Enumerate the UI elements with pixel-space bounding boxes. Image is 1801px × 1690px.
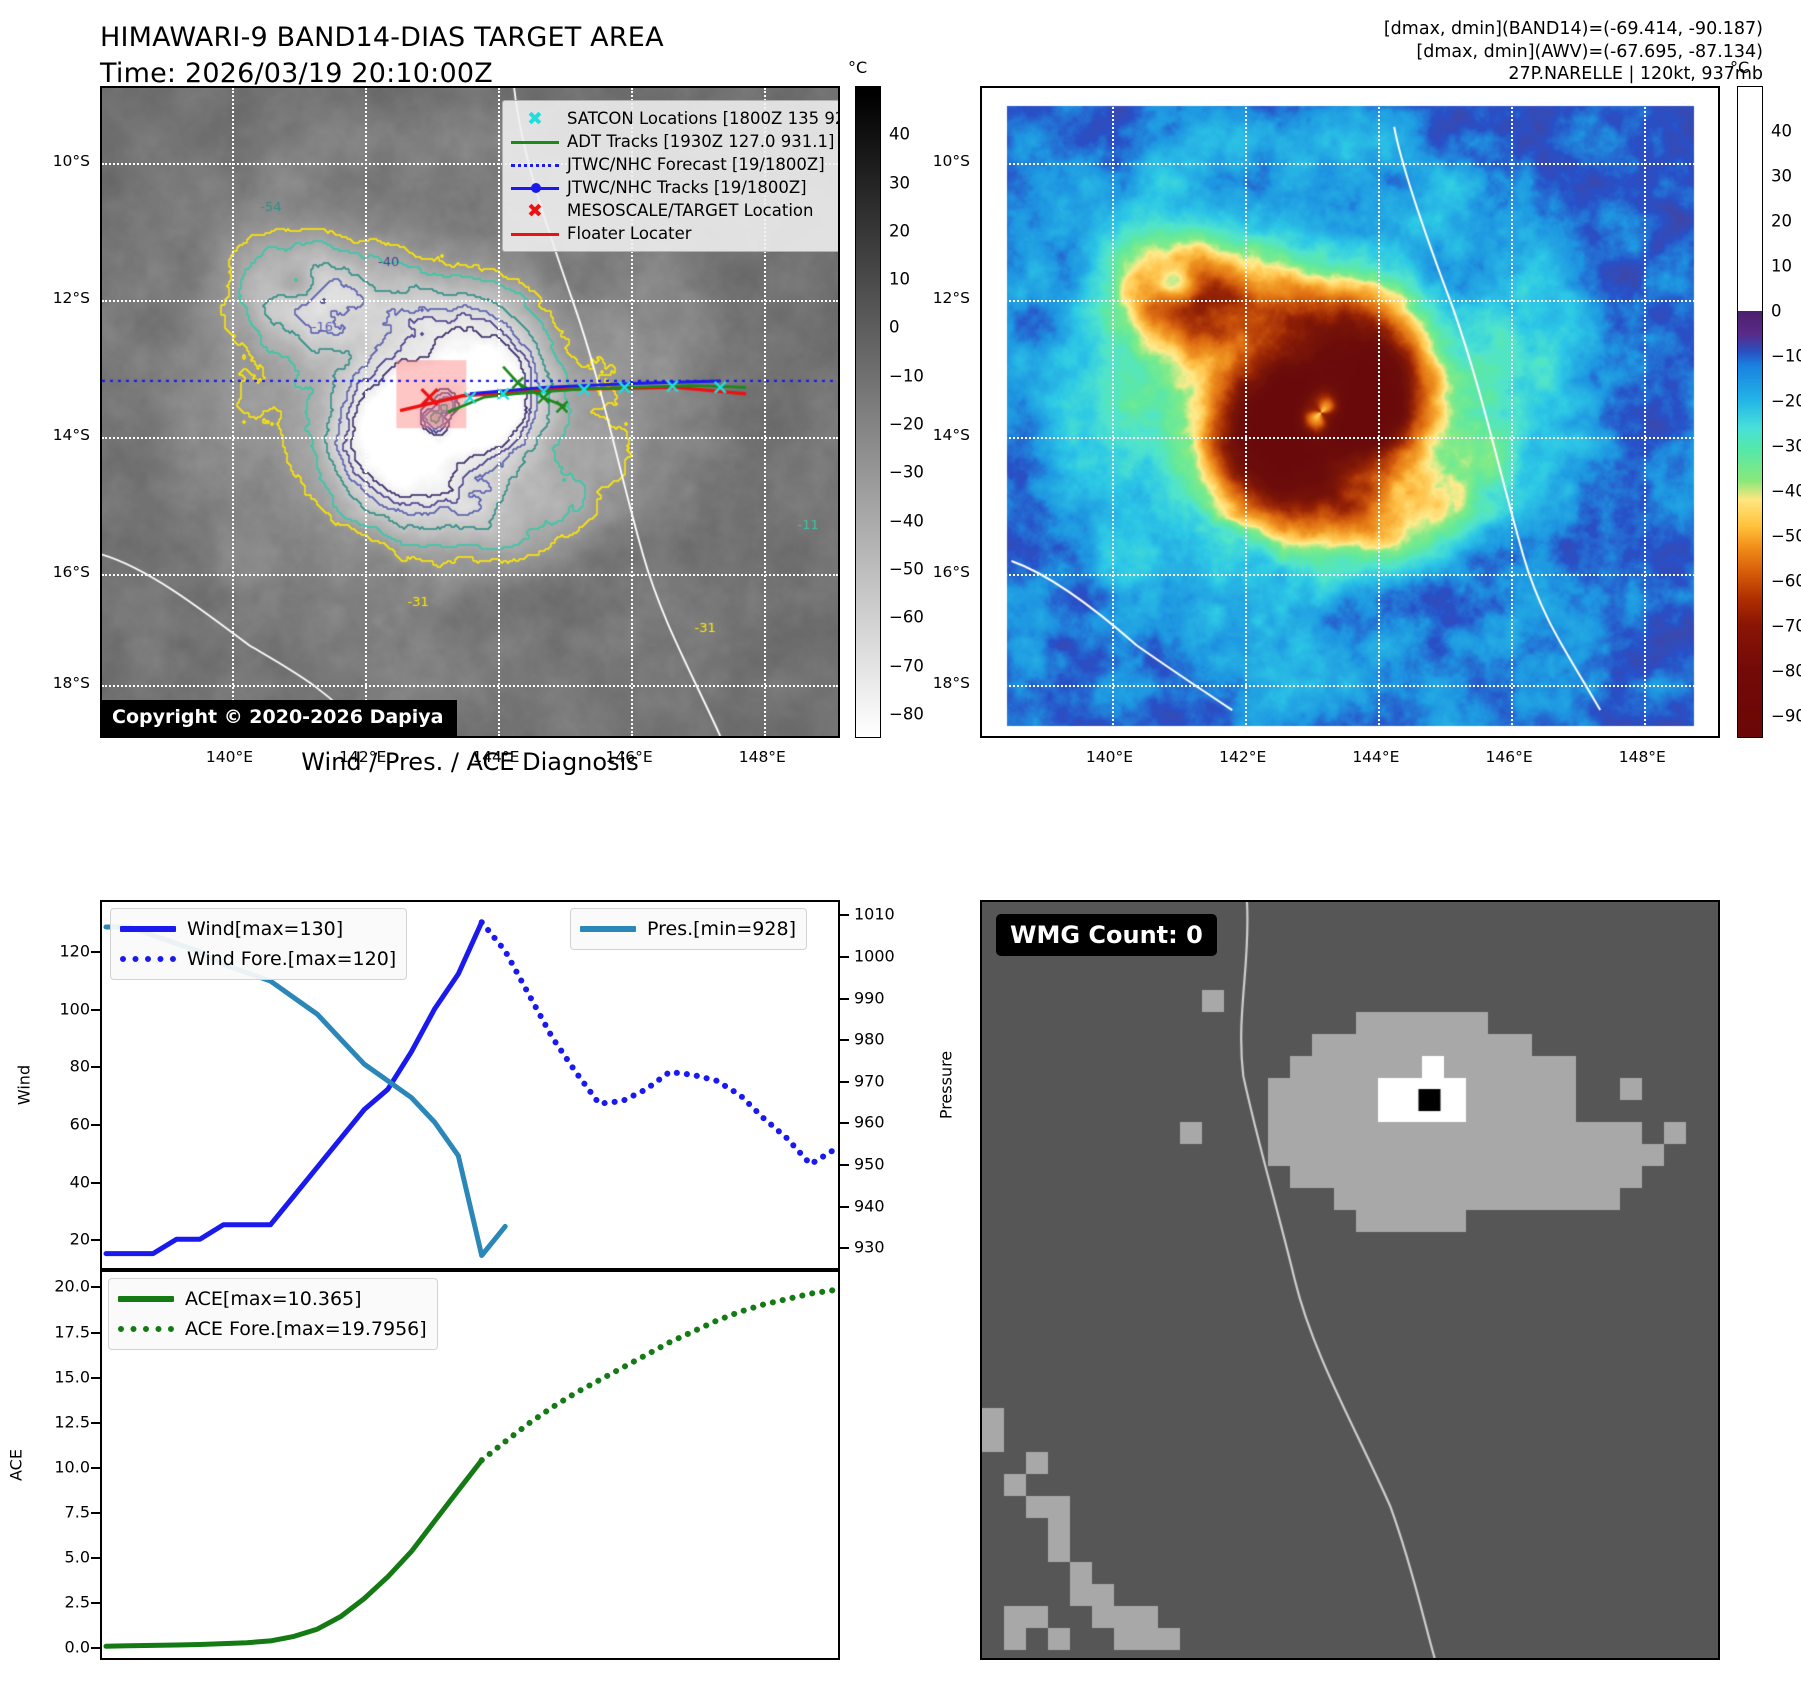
pressure-tickmark: [840, 914, 849, 916]
ir-legend-row: Floater Locater: [509, 222, 840, 245]
wind-tickmark: [91, 1239, 100, 1241]
bd-lat-tick: 16°S: [908, 563, 970, 581]
ir-legend-label: MESOSCALE/TARGET Location: [567, 201, 813, 221]
ir-colorbar-tick: −80: [889, 704, 924, 723]
ir-legend-symbol-4: ✖: [509, 201, 561, 221]
gridline-horizontal: [102, 300, 838, 302]
wind-ytick: 100: [38, 999, 90, 1018]
pressure-tickmark: [840, 1039, 849, 1041]
gridline-vertical: [1378, 88, 1380, 736]
ace-tickmark: [91, 1512, 100, 1514]
wind-legend: Wind[max=130]Wind Fore.[max=120]: [110, 908, 407, 980]
bd-colorbar-tick: 30: [1771, 166, 1792, 185]
gridline-horizontal: [102, 685, 838, 687]
wind-legend-label: Wind Fore.[max=120]: [187, 948, 396, 970]
bd-colorbar-tick: 0: [1771, 301, 1782, 320]
ace-ytick: 10.0: [30, 1457, 90, 1476]
pressure-axis-label: Pressure: [937, 1051, 956, 1119]
gridline-vertical: [498, 88, 500, 736]
pressure-ytick: 930: [854, 1238, 885, 1257]
ir-legend: ✖SATCON Locations [1800Z 135 929]ADT Tra…: [502, 100, 840, 252]
pressure-ytick: 980: [854, 1030, 885, 1049]
ir-colorbar-unit: °C: [848, 58, 867, 77]
series-windforemax: [482, 922, 834, 1164]
ir-legend-label: ADT Tracks [1930Z 127.0 931.1]: [567, 132, 834, 152]
ace-tickmark: [91, 1467, 100, 1469]
bd-enhanced-panel[interactable]: [980, 86, 1720, 738]
pressure-ytick: 1000: [854, 947, 895, 966]
ir-colorbar: [855, 86, 881, 738]
wind-tickmark: [91, 1182, 100, 1184]
page-title: HIMAWARI-9 BAND14-DIAS TARGET AREA Time:…: [100, 20, 664, 92]
ace-tickmark: [91, 1602, 100, 1604]
series-acemax: [106, 1460, 482, 1646]
ace-ytick: 0.0: [30, 1638, 90, 1657]
bd-colorbar: [1737, 86, 1763, 738]
ir-legend-row: JTWC/NHC Tracks [19/1800Z]: [509, 176, 840, 199]
bd-lon-tick: 144°E: [1352, 748, 1399, 766]
ir-legend-row: ADT Tracks [1930Z 127.0 931.1]: [509, 130, 840, 153]
pressure-legend-row: Pres.[min=928]: [577, 914, 796, 944]
bd-colorbar-tick: −30: [1771, 436, 1801, 455]
wind-ytick: 80: [38, 1057, 90, 1076]
line-symbol: [511, 141, 559, 144]
bd-colorbar-tick: −10: [1771, 346, 1801, 365]
ir-colorbar-tick: −10: [889, 366, 924, 385]
gridline-horizontal: [102, 574, 838, 576]
gridline-vertical: [1245, 88, 1247, 736]
ace-tickmark: [91, 1422, 100, 1424]
bd-lon-tick: 140°E: [1086, 748, 1133, 766]
wind-legend-symbol-0: [117, 918, 179, 940]
ace-legend-label: ACE[max=10.365]: [185, 1288, 362, 1310]
bd-lat-tick: 18°S: [908, 674, 970, 692]
ir-colorbar-tick: −60: [889, 608, 924, 627]
ace-axis-label: ACE: [6, 1449, 25, 1481]
ir-legend-symbol-0: ✖: [509, 109, 561, 129]
pressure-ytick: 960: [854, 1113, 885, 1132]
gridline-horizontal: [982, 300, 1718, 302]
ace-ytick: 12.5: [30, 1412, 90, 1431]
wind-tickmark: [91, 951, 100, 953]
wind-tickmark: [91, 1009, 100, 1011]
ace-ytick: 2.5: [30, 1593, 90, 1612]
bd-colorbar-tick: −40: [1771, 481, 1801, 500]
wind-ytick: 120: [38, 941, 90, 960]
x-marker-icon: ✖: [527, 108, 543, 130]
storm-summary: 27P.NARELLE | 120kt, 937mb: [1384, 63, 1763, 86]
pressure-legend-label: Pres.[min=928]: [647, 918, 796, 940]
gridline-horizontal: [982, 437, 1718, 439]
ir-colorbar-tick: −40: [889, 511, 924, 530]
ir-lat-tick: 12°S: [28, 289, 90, 307]
ir-legend-label: JTWC/NHC Forecast [19/1800Z]: [567, 155, 825, 175]
ace-legend: ACE[max=10.365]ACE Fore.[max=19.7956]: [108, 1278, 438, 1350]
ir-colorbar-tick: 0: [889, 318, 900, 337]
pressure-ytick: 970: [854, 1071, 885, 1090]
wind-legend-row: Wind Fore.[max=120]: [117, 944, 396, 974]
dmax-dmin-awv: [dmax, dmin](AWV)=(-67.695, -87.134): [1384, 41, 1763, 64]
marker-dot-icon: [531, 183, 541, 193]
ace-ytick: 17.5: [30, 1322, 90, 1341]
wind-legend-label: Wind[max=130]: [187, 918, 343, 940]
ace-ytick: 20.0: [30, 1277, 90, 1296]
gridline-vertical: [232, 88, 234, 736]
ir-lat-tick: 18°S: [28, 674, 90, 692]
bd-lon-tick: 146°E: [1486, 748, 1533, 766]
wmg-grid-image: [982, 902, 1718, 1658]
dotted-line-symbol: [120, 956, 176, 962]
ir-colorbar-tick: 20: [889, 221, 910, 240]
title-line-1: HIMAWARI-9 BAND14-DIAS TARGET AREA: [100, 20, 664, 56]
copyright-label: Copyright © 2020-2026 Dapiya: [102, 700, 457, 736]
pressure-ytick: 990: [854, 988, 885, 1007]
ir-legend-row: ✖MESOSCALE/TARGET Location: [509, 199, 840, 222]
bd-colorbar-tick: −20: [1771, 391, 1801, 410]
pressure-ytick: 950: [854, 1155, 885, 1174]
bd-colorbar-tick: −90: [1771, 706, 1801, 725]
ir-colorbar-tick: −30: [889, 463, 924, 482]
dmax-dmin-band14: [dmax, dmin](BAND14)=(-69.414, -90.187): [1384, 18, 1763, 41]
wind-axis-label: Wind: [15, 1065, 34, 1105]
ir-colorbar-tick: 10: [889, 270, 910, 289]
ir-legend-label: JTWC/NHC Tracks [19/1800Z]: [567, 178, 807, 198]
wind-tickmark: [91, 1124, 100, 1126]
pressure-tickmark: [840, 1081, 849, 1083]
bd-colorbar-tick: 20: [1771, 211, 1792, 230]
bd-colorbar-tick: 40: [1771, 121, 1792, 140]
pressure-legend-symbol: [577, 918, 639, 940]
bd-colorbar-tick: −80: [1771, 661, 1801, 680]
x-marker-icon: ✖: [527, 200, 543, 222]
bd-satellite-image: [982, 88, 1718, 736]
wind-tickmark: [91, 1066, 100, 1068]
wind-ytick: 20: [38, 1230, 90, 1249]
ace-ytick: 15.0: [30, 1367, 90, 1386]
bd-colorbar-tick: 10: [1771, 256, 1792, 275]
ir-legend-label: SATCON Locations [1800Z 135 929]: [567, 109, 840, 129]
ir-legend-symbol-1: [509, 132, 561, 152]
bd-lon-tick: 148°E: [1619, 748, 1666, 766]
pressure-tickmark: [840, 1247, 849, 1249]
ir-colorbar-tick: −70: [889, 656, 924, 675]
gridline-vertical: [365, 88, 367, 736]
ace-legend-row: ACE Fore.[max=19.7956]: [115, 1314, 427, 1344]
gridline-horizontal: [982, 574, 1718, 576]
ir-colorbar-tick: 40: [889, 125, 910, 144]
ace-tickmark: [91, 1647, 100, 1649]
gridline-vertical: [1511, 88, 1513, 736]
wind-ytick: 40: [38, 1172, 90, 1191]
gridline-horizontal: [982, 163, 1718, 165]
pressure-tickmark: [840, 1122, 849, 1124]
ace-legend-label: ACE Fore.[max=19.7956]: [185, 1318, 427, 1340]
ir-grayscale-panel[interactable]: ✖SATCON Locations [1800Z 135 929]ADT Tra…: [100, 86, 840, 738]
bd-colorbar-tick: −50: [1771, 526, 1801, 545]
ir-legend-symbol-5: [509, 224, 561, 244]
dotted-line-symbol: [118, 1326, 174, 1332]
bd-lon-tick: 142°E: [1219, 748, 1266, 766]
pressure-ytick: 1010: [854, 905, 895, 924]
series-aceforemax: [482, 1290, 834, 1460]
ace-ytick: 7.5: [30, 1502, 90, 1521]
ace-tickmark: [91, 1557, 100, 1559]
ir-colorbar-tick: 30: [889, 173, 910, 192]
ir-legend-row: JTWC/NHC Forecast [19/1800Z]: [509, 153, 840, 176]
diagnosis-title: Wind / Pres. / ACE Diagnosis: [100, 748, 840, 776]
wmg-panel[interactable]: WMG Count: 0: [980, 900, 1720, 1660]
pressure-tickmark: [840, 998, 849, 1000]
bd-lat-tick: 12°S: [908, 289, 970, 307]
ace-legend-row: ACE[max=10.365]: [115, 1284, 427, 1314]
header-info: [dmax, dmin](BAND14)=(-69.414, -90.187) …: [1384, 18, 1763, 86]
bd-colorbar-tick: −70: [1771, 616, 1801, 635]
wind-ytick: 60: [38, 1114, 90, 1133]
figure-root: HIMAWARI-9 BAND14-DIAS TARGET AREA Time:…: [0, 0, 1801, 1690]
pressure-ytick: 940: [854, 1196, 885, 1215]
ace-legend-symbol-1: [115, 1318, 177, 1340]
ir-lat-tick: 16°S: [28, 563, 90, 581]
ir-legend-symbol-3: [509, 178, 561, 198]
bd-colorbar-unit: °C: [1730, 58, 1749, 77]
bd-lat-tick: 14°S: [908, 426, 970, 444]
wind-legend-row: Wind[max=130]: [117, 914, 396, 944]
ir-legend-label: Floater Locater: [567, 224, 692, 244]
pressure-tickmark: [840, 1164, 849, 1166]
wind-legend-symbol-1: [117, 948, 179, 970]
line-symbol: [120, 926, 176, 932]
ir-lat-tick: 14°S: [28, 426, 90, 444]
ace-tickmark: [91, 1377, 100, 1379]
ace-legend-symbol-0: [115, 1288, 177, 1310]
wmg-count-badge: WMG Count: 0: [996, 914, 1217, 956]
gridline-vertical: [1112, 88, 1114, 736]
pressure-tickmark: [840, 1206, 849, 1208]
ace-tickmark: [91, 1286, 100, 1288]
ir-legend-row: ✖SATCON Locations [1800Z 135 929]: [509, 107, 840, 130]
bd-colorbar-tick: −60: [1771, 571, 1801, 590]
line-symbol: [118, 1296, 174, 1302]
gridline-horizontal: [102, 437, 838, 439]
gridline-horizontal: [982, 685, 1718, 687]
pressure-tickmark: [840, 956, 849, 958]
dotted-line-symbol: [511, 164, 559, 167]
ir-legend-symbol-2: [509, 155, 561, 175]
gridline-vertical: [1644, 88, 1646, 736]
ace-ytick: 5.0: [30, 1547, 90, 1566]
bd-lat-tick: 10°S: [908, 152, 970, 170]
ir-lat-tick: 10°S: [28, 152, 90, 170]
pressure-legend: Pres.[min=928]: [570, 908, 807, 950]
line-symbol: [580, 926, 636, 932]
line-symbol: [511, 233, 559, 236]
ace-tickmark: [91, 1332, 100, 1334]
